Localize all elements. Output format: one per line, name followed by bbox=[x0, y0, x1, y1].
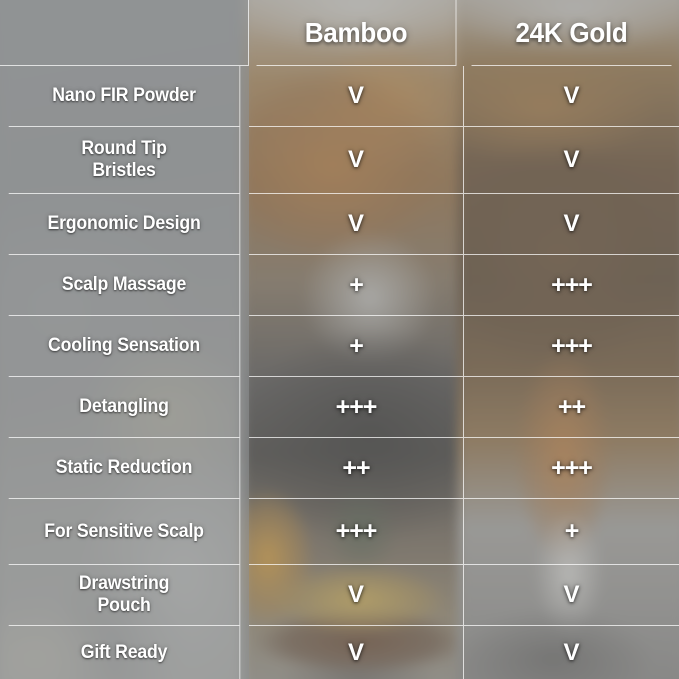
cell-bamboo-round-tip-bristles: V bbox=[249, 127, 464, 194]
cell-gold-drawstring-pouch: V bbox=[464, 565, 679, 626]
cell-bamboo-cooling-sensation: + bbox=[249, 316, 464, 377]
row-label-nano-fir-powder: Nano FIR Powder bbox=[9, 66, 241, 127]
cell-gold-static-reduction: +++ bbox=[464, 438, 679, 499]
row-label-cooling-sensation: Cooling Sensation bbox=[9, 316, 241, 377]
cell-bamboo-gift-ready: V bbox=[249, 626, 464, 679]
cell-bamboo-for-sensitive-scalp: +++ bbox=[249, 499, 464, 565]
cell-gold-nano-fir-powder: V bbox=[464, 66, 679, 127]
cell-gold-cooling-sensation: +++ bbox=[464, 316, 679, 377]
cell-bamboo-scalp-massage: + bbox=[249, 255, 464, 316]
cell-bamboo-ergonomic-design: V bbox=[249, 194, 464, 255]
cell-gold-ergonomic-design: V bbox=[464, 194, 679, 255]
comparison-grid: Bamboo 24K Gold Nano FIR Powder V V Roun… bbox=[0, 0, 679, 679]
row-label-detangling: Detangling bbox=[9, 377, 241, 438]
cell-bamboo-nano-fir-powder: V bbox=[249, 66, 464, 127]
feature-comparison-table: Bamboo 24K Gold Nano FIR Powder V V Roun… bbox=[0, 0, 679, 679]
row-label-round-tip-bristles: Round TipBristles bbox=[9, 127, 241, 194]
row-label-gift-ready: Gift Ready bbox=[9, 626, 241, 679]
cell-gold-round-tip-bristles: V bbox=[464, 127, 679, 194]
cell-gold-for-sensitive-scalp: + bbox=[464, 499, 679, 565]
column-header-24k-gold: 24K Gold bbox=[472, 0, 672, 66]
cell-bamboo-detangling: +++ bbox=[249, 377, 464, 438]
row-label-static-reduction: Static Reduction bbox=[9, 438, 241, 499]
cell-gold-gift-ready: V bbox=[464, 626, 679, 679]
cell-gold-detangling: ++ bbox=[464, 377, 679, 438]
cell-bamboo-drawstring-pouch: V bbox=[249, 565, 464, 626]
cell-gold-scalp-massage: +++ bbox=[464, 255, 679, 316]
column-header-bamboo: Bamboo bbox=[257, 0, 457, 66]
row-label-drawstring-pouch: DrawstringPouch bbox=[9, 565, 241, 626]
cell-bamboo-static-reduction: ++ bbox=[249, 438, 464, 499]
table-corner-cell bbox=[0, 0, 249, 66]
row-label-for-sensitive-scalp: For Sensitive Scalp bbox=[9, 499, 241, 565]
row-label-ergonomic-design: Ergonomic Design bbox=[9, 194, 241, 255]
row-label-scalp-massage: Scalp Massage bbox=[9, 255, 241, 316]
